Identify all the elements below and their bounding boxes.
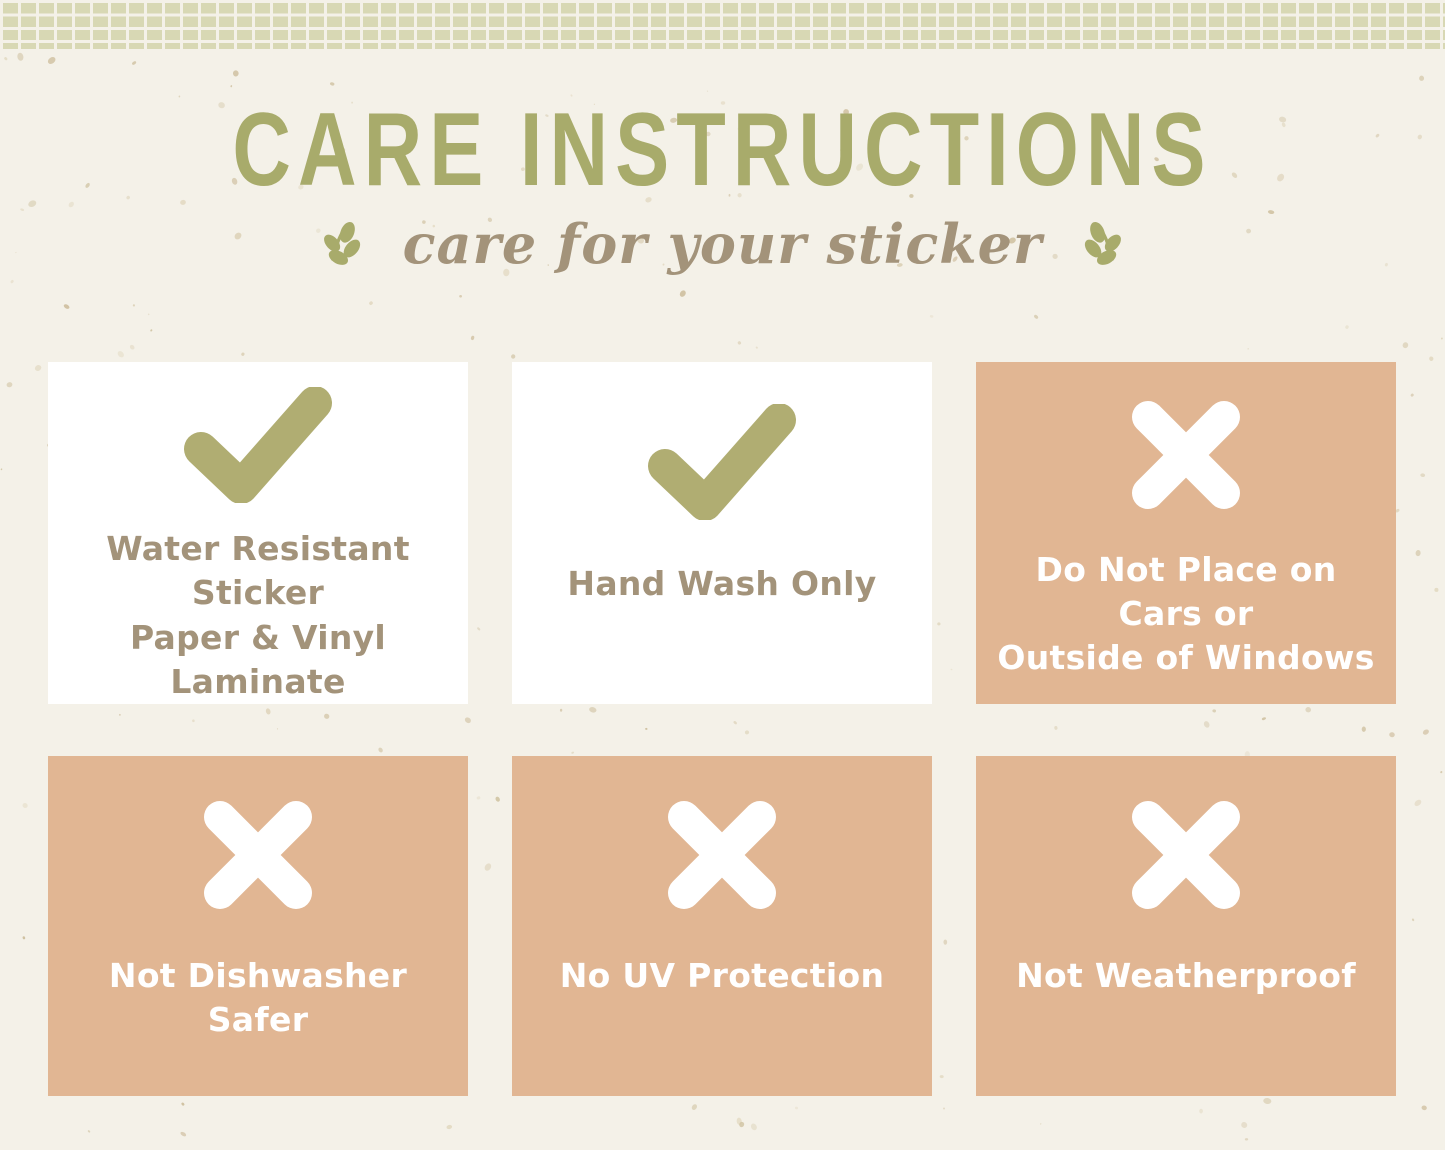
leaf-sprig-icon [315, 217, 369, 271]
care-card: Not Dishwasher Safer [48, 756, 468, 1096]
card-label-line-1: No UV Protection [560, 954, 885, 998]
card-label-line-1: Do Not Place on Cars or [990, 548, 1382, 636]
card-label: Water Resistant Sticker Paper & Vinyl La… [48, 527, 468, 704]
subtitle-row: care for your sticker [0, 217, 1445, 271]
card-label: Not Dishwasher Safer [48, 954, 468, 1042]
icon-slot [48, 756, 468, 954]
card-label: Hand Wash Only [553, 562, 890, 606]
card-label-line-1: Not Weatherproof [1016, 954, 1356, 998]
page-header: CARE INSTRUCTIONS care for your sticker [0, 52, 1445, 271]
cross-icon [1126, 795, 1246, 915]
care-card: Hand Wash Only [512, 362, 932, 704]
care-card: Do Not Place on Cars or Outside of Windo… [976, 362, 1396, 704]
icon-slot [976, 362, 1396, 548]
check-icon [183, 387, 333, 503]
leaf-sprig-icon [1076, 217, 1130, 271]
card-label: No UV Protection [546, 954, 899, 998]
page-title: CARE INSTRUCTIONS [159, 106, 1286, 195]
care-card: No UV Protection [512, 756, 932, 1096]
cross-icon [198, 795, 318, 915]
check-icon [647, 404, 797, 520]
care-card: Not Weatherproof [976, 756, 1396, 1096]
card-label: Do Not Place on Cars or Outside of Windo… [976, 548, 1396, 681]
icon-slot [976, 756, 1396, 954]
decorative-grid-band [0, 0, 1445, 52]
cross-icon [662, 795, 782, 915]
card-label-line-2: Paper & Vinyl Laminate [62, 616, 454, 704]
care-card: Water Resistant Sticker Paper & Vinyl La… [48, 362, 468, 704]
care-instruction-card-grid: Water Resistant Sticker Paper & Vinyl La… [48, 362, 1396, 1096]
card-label: Not Weatherproof [1002, 954, 1370, 998]
page-subtitle: care for your sticker [403, 217, 1043, 271]
cross-icon [1126, 395, 1246, 515]
icon-slot [512, 756, 932, 954]
card-label-line-1: Not Dishwasher Safer [62, 954, 454, 1042]
card-label-line-1: Hand Wash Only [567, 562, 876, 606]
icon-slot [48, 362, 468, 527]
icon-slot [512, 362, 932, 562]
card-label-line-1: Water Resistant Sticker [62, 527, 454, 615]
card-label-line-2: Outside of Windows [990, 636, 1382, 680]
